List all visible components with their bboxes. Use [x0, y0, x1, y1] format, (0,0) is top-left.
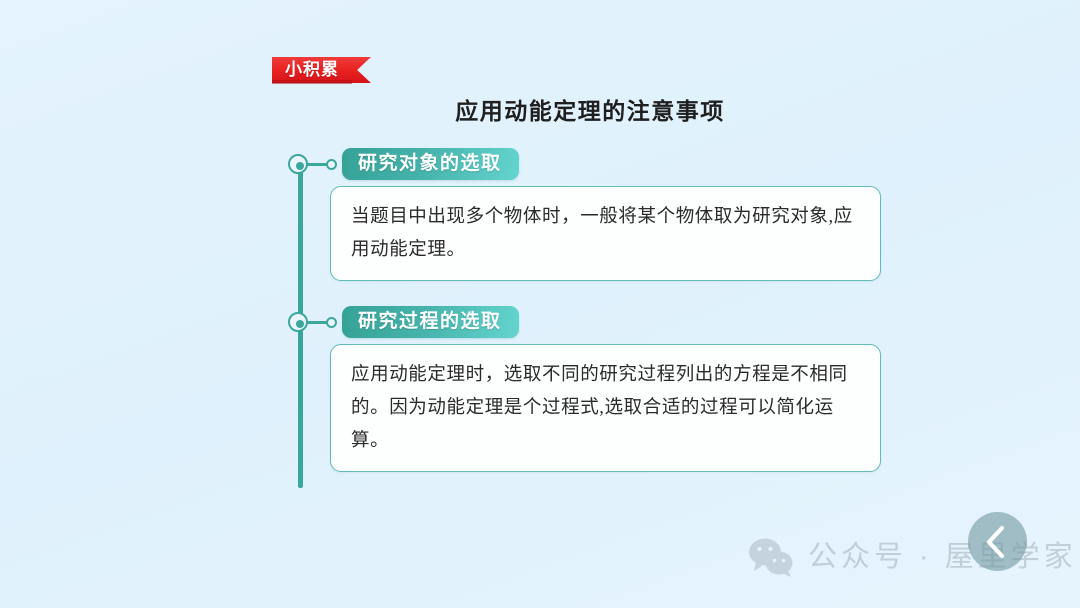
section-body-1: 当题目中出现多个物体时，一般将某个物体取为研究对象,应用动能定理。 [330, 186, 881, 281]
chevron-left-icon [985, 525, 1007, 559]
section-heading-2: 研究过程的选取 [342, 306, 519, 338]
timeline-connector-1 [288, 154, 340, 176]
timeline-node-center [296, 320, 304, 328]
ribbon-banner: 小积累 [272, 57, 371, 83]
timeline-node-small-icon [326, 317, 337, 328]
timeline-node-small-icon [326, 159, 337, 170]
slide-canvas: 小积累 应用动能定理的注意事项 研究对象的选取 当题目中出现多个物体时，一般将某… [0, 0, 1080, 608]
timeline-node-center [296, 162, 304, 170]
timeline-node-icon [288, 312, 308, 332]
back-button[interactable] [968, 512, 1027, 571]
timeline-node-icon [288, 154, 308, 174]
timeline-connector-line [307, 163, 328, 166]
watermark: 公众号 · 屋里学家 [748, 537, 1077, 577]
timeline-connector-line [307, 321, 328, 324]
timeline-connector-2 [288, 312, 340, 334]
ribbon-label: 小积累 [272, 57, 352, 83]
section-heading-1: 研究对象的选取 [342, 148, 519, 180]
page-title: 应用动能定理的注意事项 [330, 95, 850, 127]
section-body-2: 应用动能定理时，选取不同的研究过程列出的方程是不相同的。因为动能定理是个过程式,… [330, 344, 881, 472]
wechat-icon [748, 537, 794, 577]
watermark-text: 公众号 · 屋里学家 [808, 537, 1077, 577]
